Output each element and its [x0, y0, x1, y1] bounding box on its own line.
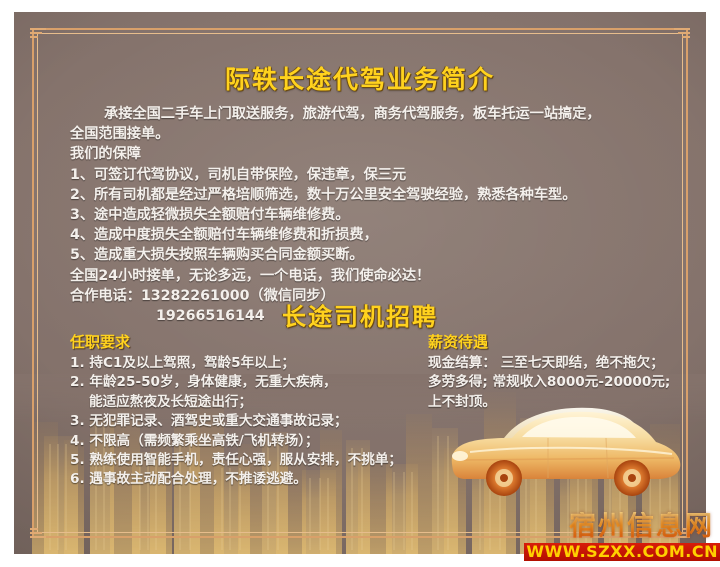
salary-item: 上不封顶。 [428, 393, 684, 412]
guarantee-item-1: 1、可签订代驾协议，司机自带保险，保违章，保三元 [70, 165, 670, 185]
salary-list: 现金结算： 三至七天即结，绝不拖欠； 多劳多得; 常规收入8000元-20000… [428, 354, 684, 412]
salary-heading: 薪资待遇 [428, 332, 684, 353]
poster-canvas: 际轶长途代驾业务简介 承接全国二手车上门取送服务，旅游代驾，商务代驾服务，板车托… [0, 0, 720, 567]
requirement-item: 6. 遇事故主动配合处理，不推诿逃避。 [70, 470, 420, 489]
guarantee-item-4: 4、造成中度损失全额赔付车辆维修费和折损费， [70, 225, 670, 245]
guarantee-heading: 我们的保障 [70, 144, 670, 164]
requirement-item: 3. 无犯罪记录、酒驾史或重大交通事故记录； [70, 412, 420, 431]
salary-item: 多劳多得; 常规收入8000元-20000元; [428, 373, 684, 392]
service-line: 全国24小时接单，无论多远，一个电话，我们使命必达！ [70, 266, 670, 286]
guarantee-item-5: 5、造成重大损失按照车辆购买合同金额买断。 [70, 245, 670, 265]
salary-column: 薪资待遇 现金结算： 三至七天即结，绝不拖欠； 多劳多得; 常规收入8000元-… [420, 332, 684, 490]
recruit-section: 任职要求 1. 持C1及以上驾照，驾龄5年以上； 2. 年龄25-50岁，身体健… [70, 332, 684, 490]
requirement-item: 5. 熟练使用智能手机，责任心强，服从安排，不挑单； [70, 451, 420, 470]
poster-content: 际轶长途代驾业务简介 承接全国二手车上门取送服务，旅游代驾，商务代驾服务，板车托… [14, 12, 706, 554]
requirements-column: 任职要求 1. 持C1及以上驾照，驾龄5年以上； 2. 年龄25-50岁，身体健… [70, 332, 420, 490]
guarantee-item-2: 2、所有司机都是经过严格培顺筛选，数十万公里安全驾驶经验，熟悉各种车型。 [70, 185, 670, 205]
requirement-item: 1. 持C1及以上驾照，驾龄5年以上； [70, 354, 420, 373]
requirements-list: 1. 持C1及以上驾照，驾龄5年以上； 2. 年龄25-50岁，身体健康，无重大… [70, 354, 420, 490]
guarantee-item-3: 3、途中造成轻微损失全额赔付车辆维修费。 [70, 205, 670, 225]
requirement-item: 2. 年龄25-50岁，身体健康，无重大疾病， [70, 373, 420, 392]
intro-title: 际轶长途代驾业务简介 [14, 60, 706, 96]
intro-body: 承接全国二手车上门取送服务，旅游代驾，商务代驾服务，板车托运一站搞定， 全国范围… [70, 104, 670, 326]
requirement-item: 4. 不限高（需频繁乘坐高铁/飞机转场）； [70, 432, 420, 451]
requirement-item-continuation: 能适应熬夜及长短途出行； [70, 393, 420, 412]
intro-lead-line-1: 承接全国二手车上门取送服务，旅游代驾，商务代驾服务，板车托运一站搞定， [70, 104, 670, 124]
salary-item: 现金结算： 三至七天即结，绝不拖欠； [428, 354, 684, 373]
poster-panel: 际轶长途代驾业务简介 承接全国二手车上门取送服务，旅游代驾，商务代驾服务，板车托… [14, 12, 706, 554]
requirements-heading: 任职要求 [70, 332, 420, 353]
recruit-title: 长途司机招聘 [14, 297, 706, 332]
intro-lead-line-2: 全国范围接单。 [70, 124, 670, 144]
